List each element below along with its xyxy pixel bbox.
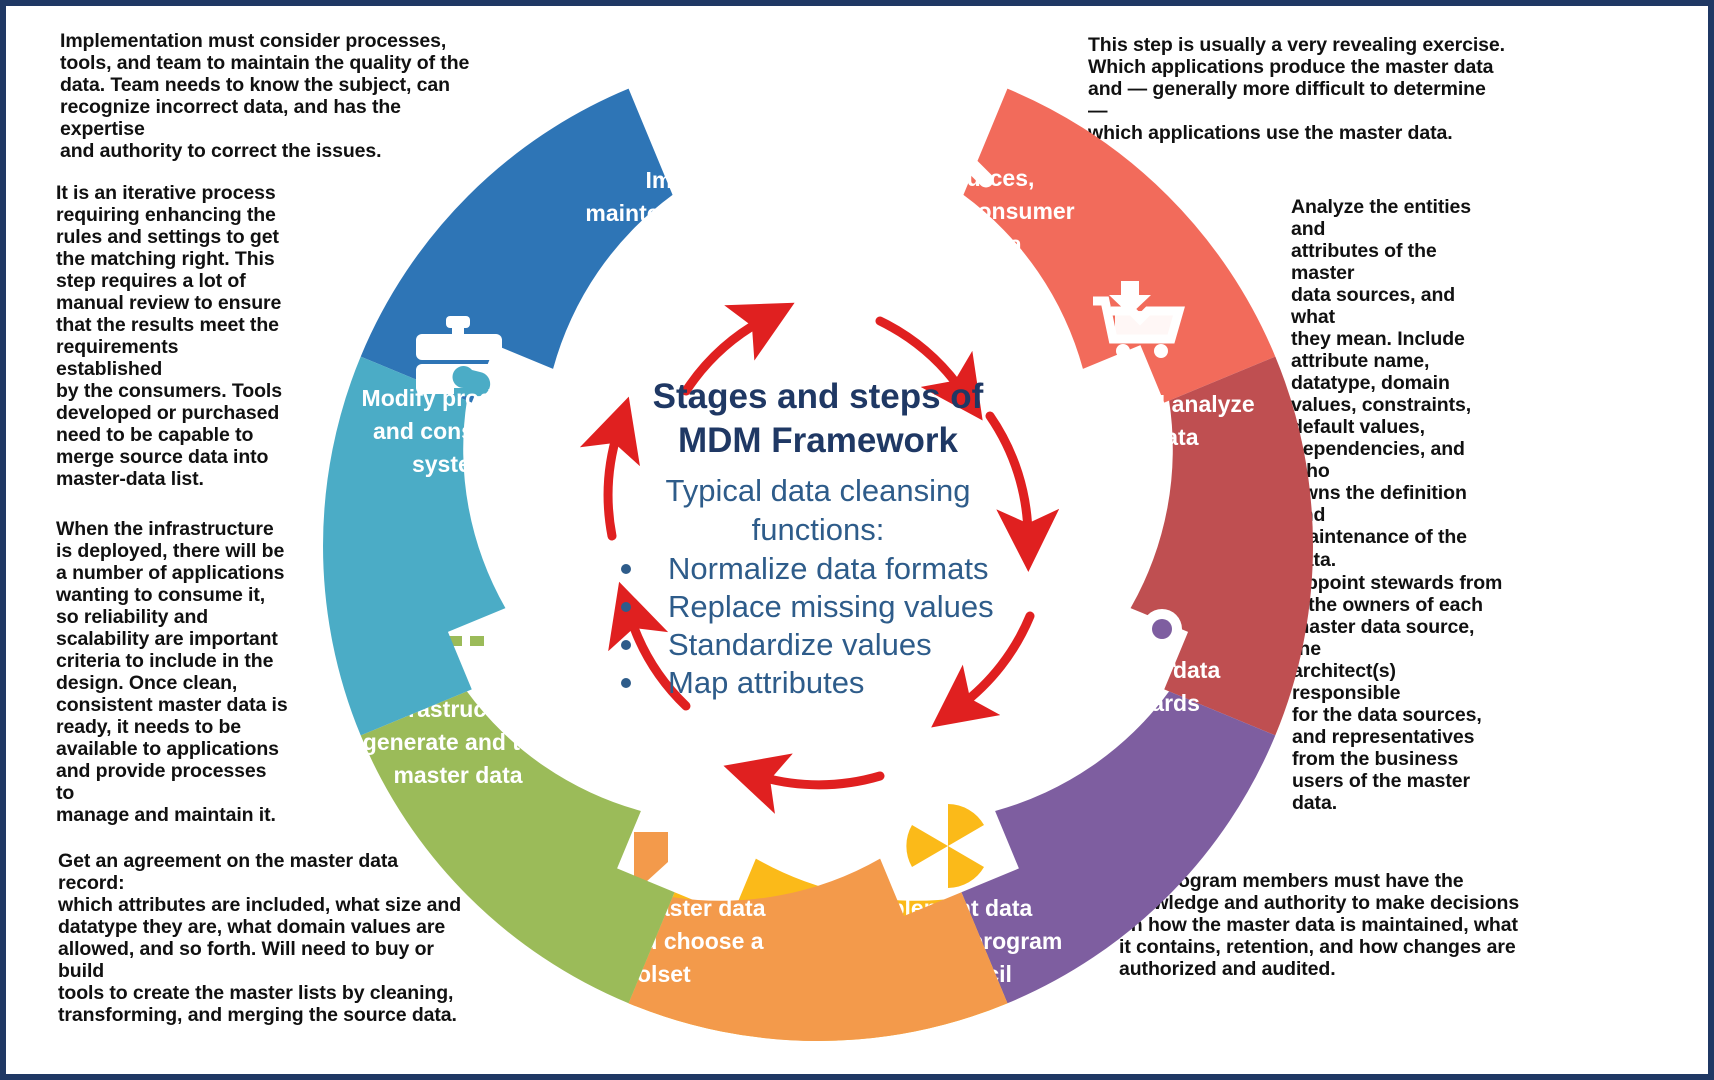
arrow-bottom-right [960,616,1030,706]
segment-label-line: systems [412,451,504,477]
segment-label-line: Collect and analyze [1041,391,1254,417]
center-subtitle-line2: functions: [752,512,885,547]
center-title-line2: MDM Framework [678,421,959,460]
note-modify-producing-consuming-systems: It is an iterative process requiring enh… [56,182,286,490]
segment-label-line: master data [393,762,522,788]
center-bullet-item: Replace missing values [668,589,994,624]
mdm-framework-wheel: Implement maintenance process Identify s… [288,16,1348,1076]
center-bullet-item: Normalize data formats [668,551,988,586]
segment-label-line: generate and test [363,729,554,755]
segment-label-line: of master data [864,231,1021,257]
bullet-dot [621,602,631,612]
center-bullet-item: Standardize values [668,627,932,662]
note-design-infrastructure: When the infrastructure is deployed, the… [56,518,288,826]
diagram-page: Implementation must consider processes, … [0,0,1714,1080]
bullet-dot [621,640,631,650]
center-bullet-item: Map attributes [668,665,864,700]
aperture-icon [906,804,990,888]
segment-label-line: and consuming [373,418,543,444]
segment-label-line: stewards [1100,690,1200,716]
segment-label-line: producer and consumer [811,198,1074,224]
arrow-right [990,416,1028,536]
center-text-block: Stages and steps of MDM Framework Typica… [621,377,994,700]
segment-label-line: metadata [1098,424,1199,450]
segment-label-line: Modify producing [362,385,555,411]
segment-label-line: Implement [645,167,760,193]
segment-label-line: Appoint data [1080,657,1221,683]
center-title-line1: Stages and steps of [653,377,984,416]
segment-label-line: maintenance process [585,200,820,226]
bullet-dot [621,564,631,574]
center-subtitle-line1: Typical data cleansing [665,473,970,508]
bullet-dot [621,678,631,688]
segment-label-line: Identify sources, [852,165,1035,191]
arrow-bottom [758,776,880,785]
arrow-left [608,431,618,536]
